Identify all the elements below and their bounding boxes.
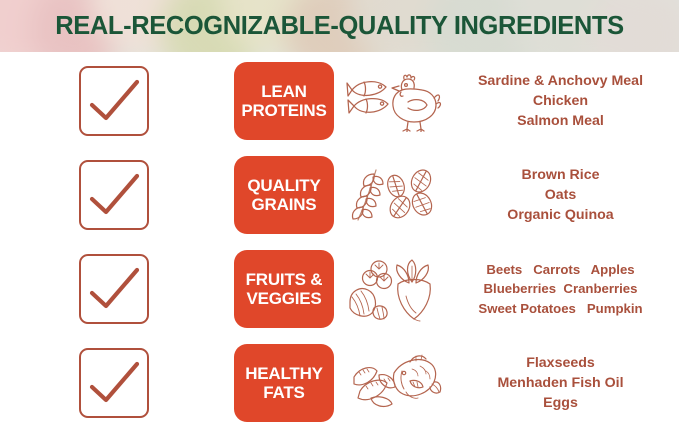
ingredient-item: Flaxseeds	[526, 353, 595, 373]
ingredient-item: Menhaden Fish Oil	[497, 373, 623, 393]
checkbox-cell	[0, 66, 228, 136]
checkbox-cell	[0, 160, 228, 230]
page-header: REAL-RECOGNIZABLE-QUALITY INGREDIENTS	[0, 0, 679, 52]
category-badge-cell: HEALTHY FATS	[228, 344, 340, 422]
ingredient-item: Oats	[545, 185, 577, 205]
checkbox-checked-icon[interactable]	[79, 66, 149, 136]
ingredient-item: Organic Quinoa	[507, 205, 613, 225]
page-title: REAL-RECOGNIZABLE-QUALITY INGREDIENTS	[0, 0, 679, 52]
ingredient-item: Beets Carrots Apples	[486, 260, 634, 279]
badge-line-1: FRUITS &	[246, 270, 323, 289]
icon-cell	[340, 256, 448, 322]
ingredient-row: QUALITY GRAINS	[0, 148, 679, 242]
checkbox-cell	[0, 254, 228, 324]
category-badge-quality-grains[interactable]: QUALITY GRAINS	[234, 156, 334, 234]
ingredient-item: Salmon Meal	[517, 111, 604, 131]
berries-sweet-potato-beet-icon	[346, 256, 442, 322]
category-badge-fruits-veggies[interactable]: FRUITS & VEGGIES	[234, 250, 334, 328]
category-badge-cell: LEAN PROTEINS	[228, 62, 340, 140]
icon-cell	[340, 70, 448, 132]
ingredient-list: Brown Rice Oats Organic Quinoa	[448, 165, 679, 225]
ingredient-list: Sardine & Anchovy Meal Chicken Salmon Me…	[448, 71, 679, 131]
wheat-and-grains-icon	[346, 164, 442, 226]
fish-and-chicken-icon	[346, 70, 442, 132]
badge-line-1: QUALITY	[247, 176, 320, 195]
ingredient-item: Chicken	[533, 91, 588, 111]
category-badge-lean-proteins[interactable]: LEAN PROTEINS	[234, 62, 334, 140]
icon-cell	[340, 351, 448, 415]
badge-line-2: FATS	[263, 383, 304, 402]
checkbox-checked-icon[interactable]	[79, 254, 149, 324]
category-badge-healthy-fats[interactable]: HEALTHY FATS	[234, 344, 334, 422]
category-badge-cell: QUALITY GRAINS	[228, 156, 340, 234]
badge-line-1: LEAN	[261, 82, 306, 101]
ingredient-item: Eggs	[543, 393, 578, 413]
ingredient-row: LEAN PROTEINS	[0, 54, 679, 148]
ingredient-list: Flaxseeds Menhaden Fish Oil Eggs	[448, 353, 679, 413]
checkbox-checked-icon[interactable]	[79, 348, 149, 418]
ingredient-row: HEALTHY FATS	[0, 336, 679, 430]
ingredient-item: Sardine & Anchovy Meal	[478, 71, 643, 91]
badge-line-2: GRAINS	[252, 195, 317, 214]
badge-line-2: VEGGIES	[246, 289, 321, 308]
badge-line-1: HEALTHY	[245, 364, 323, 383]
category-badge-cell: FRUITS & VEGGIES	[228, 250, 340, 328]
ingredient-rows: LEAN PROTEINS	[0, 52, 679, 429]
ingredient-row: FRUITS & VEGGIES	[0, 242, 679, 336]
ingredient-item: Brown Rice	[521, 165, 599, 185]
checkbox-cell	[0, 348, 228, 418]
ingredient-item: Sweet Potatoes Pumpkin	[478, 299, 642, 318]
checkbox-checked-icon[interactable]	[79, 160, 149, 230]
ingredient-item: Blueberries Cranberries	[484, 279, 638, 298]
seeds-and-fish-icon	[346, 351, 442, 415]
icon-cell	[340, 164, 448, 226]
badge-line-2: PROTEINS	[241, 101, 326, 120]
ingredient-list: Beets Carrots Apples Blueberries Cranber…	[448, 260, 679, 317]
